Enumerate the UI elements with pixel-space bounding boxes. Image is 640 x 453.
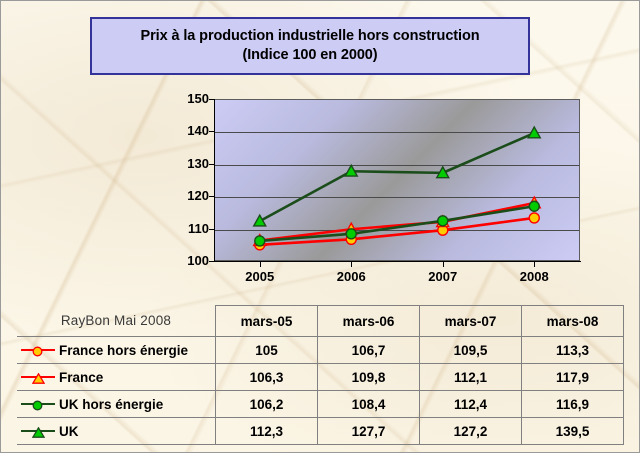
y-axis-tick-label: 100 — [169, 253, 209, 268]
x-axis-tick-label: 2008 — [499, 269, 569, 284]
table-cell-value: 109,8 — [318, 364, 420, 391]
x-axis-tick-label: 2006 — [316, 269, 386, 284]
table-cell-value: 117,9 — [522, 364, 624, 391]
table-cell-value: 139,5 — [522, 418, 624, 445]
series-france-hors-nergie-marker — [529, 213, 539, 223]
table-cell-value: 108,4 — [318, 391, 420, 418]
table-cell-value: 106,7 — [318, 337, 420, 364]
y-axis-tick-label: 110 — [169, 221, 209, 236]
legend-triangle-marker-icon — [32, 426, 45, 441]
series-uk-marker — [528, 127, 540, 138]
legend-cell: UK hors énergie — [17, 391, 216, 418]
table-cell-value: 112,3 — [216, 418, 318, 445]
x-axis-tick-mark — [443, 262, 444, 267]
table-cell-value: 109,5 — [420, 337, 522, 364]
legend-cell: UK — [17, 418, 216, 445]
chart-page: Prix à la production industrielle hors c… — [0, 0, 640, 453]
table-cell-value: 127,7 — [318, 418, 420, 445]
chart-title-line-1: Prix à la production industrielle hors c… — [141, 27, 480, 46]
table-cell-value: 112,1 — [420, 364, 522, 391]
y-axis-tick-label: 120 — [169, 188, 209, 203]
series-uk-marker — [254, 215, 266, 226]
table-cell-value: 113,3 — [522, 337, 624, 364]
x-axis-line — [214, 261, 581, 262]
chart-title-line-2: (Indice 100 en 2000) — [242, 46, 377, 65]
table-row: France106,3109,8112,1117,9 — [17, 364, 624, 391]
table-body: RayBon Mai 2008 mars-05mars-06mars-07mar… — [17, 306, 624, 445]
legend-label: UK — [59, 424, 79, 439]
table-cell-value: 106,2 — [216, 391, 318, 418]
table-cell-value: 112,4 — [420, 391, 522, 418]
table-row: France hors énergie105106,7109,5113,3 — [17, 337, 624, 364]
x-axis-tick-label: 2005 — [225, 269, 295, 284]
legend-swatch — [21, 369, 55, 385]
legend-cell: France hors énergie — [17, 337, 216, 364]
x-axis-tick-label: 2007 — [408, 269, 478, 284]
chart-title-box: Prix à la production industrielle hors c… — [90, 17, 530, 75]
legend-label: UK hors énergie — [59, 397, 163, 412]
series-uk-hors-nergie-marker — [346, 229, 356, 239]
legend-swatch — [21, 396, 55, 412]
table-column-header: mars-07 — [420, 306, 522, 337]
series-uk-hors-nergie-marker — [255, 236, 265, 246]
legend-triangle-marker-icon — [32, 372, 45, 387]
legend-circle-marker-icon — [32, 345, 43, 360]
table-row: UK112,3127,7127,2139,5 — [17, 418, 624, 445]
credit-note: RayBon Mai 2008 — [17, 306, 216, 337]
series-france-hors-nergie — [255, 213, 540, 250]
legend-swatch — [21, 342, 55, 358]
y-axis-tick-label: 140 — [169, 123, 209, 138]
line-chart: 1001101201301401502005200620072008 — [169, 97, 581, 297]
series-uk-line — [260, 133, 535, 221]
y-axis-tick-label: 150 — [169, 91, 209, 106]
y-axis-tick-label: 130 — [169, 156, 209, 171]
x-axis-tick-mark — [351, 262, 352, 267]
table-cell-value: 106,3 — [216, 364, 318, 391]
table-header-row: RayBon Mai 2008 mars-05mars-06mars-07mar… — [17, 306, 624, 337]
series-plot — [214, 99, 580, 261]
series-france-hors-nergie-line — [260, 218, 535, 245]
table-row: UK hors énergie106,2108,4112,4116,9 — [17, 391, 624, 418]
x-axis-tick-mark — [260, 262, 261, 267]
legend-cell: France — [17, 364, 216, 391]
table-column-header: mars-06 — [318, 306, 420, 337]
series-uk-hors-nergie-marker — [529, 201, 539, 211]
table-cell-value: 116,9 — [522, 391, 624, 418]
legend-label: France — [59, 370, 103, 385]
legend-swatch — [21, 423, 55, 439]
legend-label: France hors énergie — [59, 343, 188, 358]
y-axis-tick-mark — [209, 261, 214, 262]
data-table: RayBon Mai 2008 mars-05mars-06mars-07mar… — [17, 305, 624, 445]
table-column-header: mars-08 — [522, 306, 624, 337]
series-uk-hors-nergie-marker — [438, 216, 448, 226]
legend-circle-marker-icon — [32, 399, 43, 414]
x-axis-tick-mark — [534, 262, 535, 267]
table-cell-value: 127,2 — [420, 418, 522, 445]
table-column-header: mars-05 — [216, 306, 318, 337]
table-cell-value: 105 — [216, 337, 318, 364]
